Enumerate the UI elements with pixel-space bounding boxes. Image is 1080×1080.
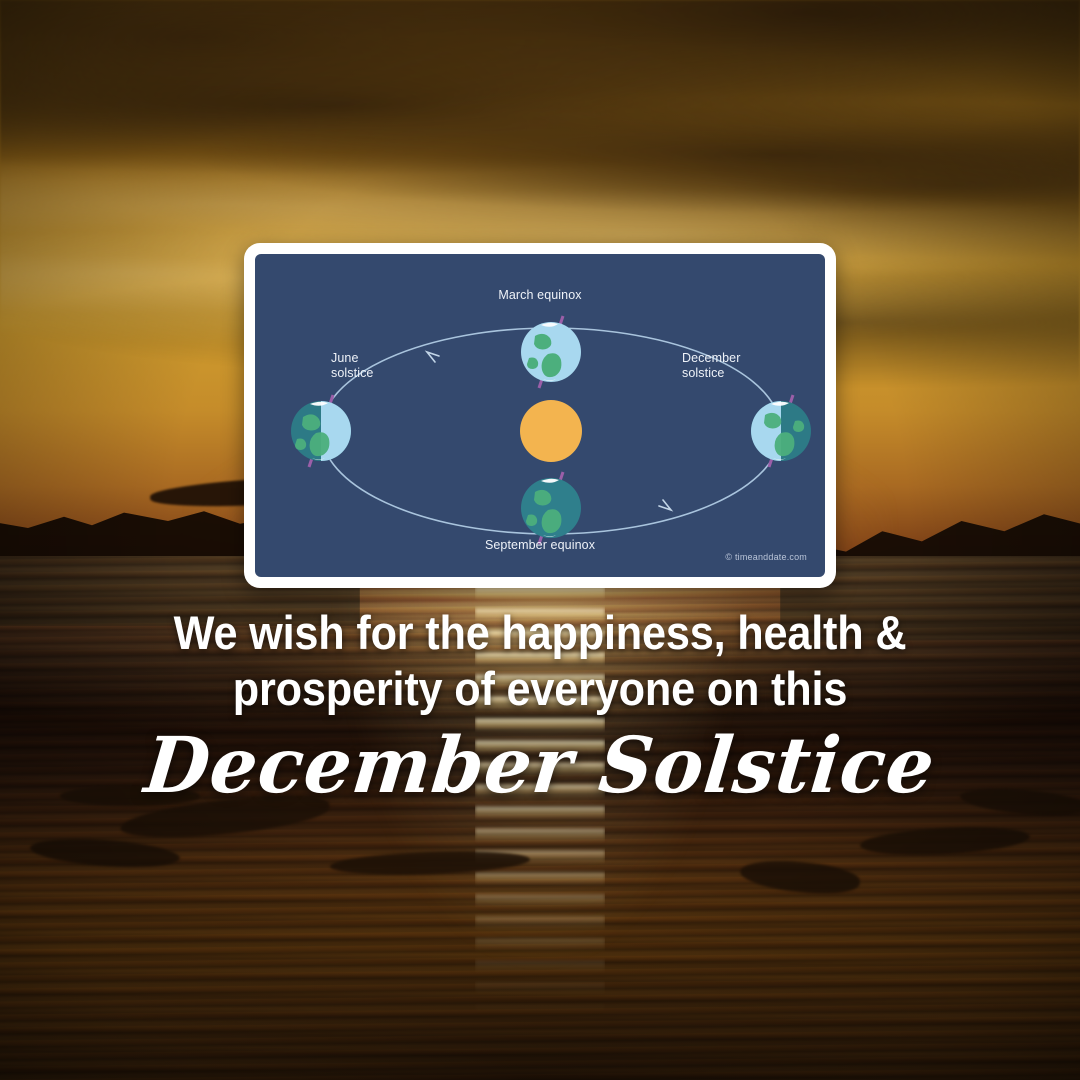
seasons-diagram-card: March equinox June solstice December sol… [244,243,836,588]
credit-text: © timeanddate.com [725,552,807,562]
earth-december-solstice [751,395,811,467]
greeting-line-1: We wish for the happiness, health & [43,605,1037,661]
label-march-equinox: March equinox [255,288,825,303]
earth-march-equinox [521,316,581,388]
label-june-solstice: June solstice [331,351,373,381]
greeting-script-title: December Solstice [0,721,1080,810]
label-december-solstice: December solstice [682,351,740,381]
earth-june-solstice [291,395,351,467]
diagram-panel: March equinox June solstice December sol… [255,254,825,577]
greeting-block: We wish for the happiness, health & pros… [0,605,1080,809]
orbit-arrow-top-left [427,352,439,362]
greeting-line-2: prosperity of everyone on this [43,661,1037,717]
solstice-greeting-poster: March equinox June solstice December sol… [0,0,1080,1080]
sun-icon [520,400,582,462]
label-september-equinox: September equinox [255,538,825,553]
orbit-arrow-bottom-right [659,500,671,510]
